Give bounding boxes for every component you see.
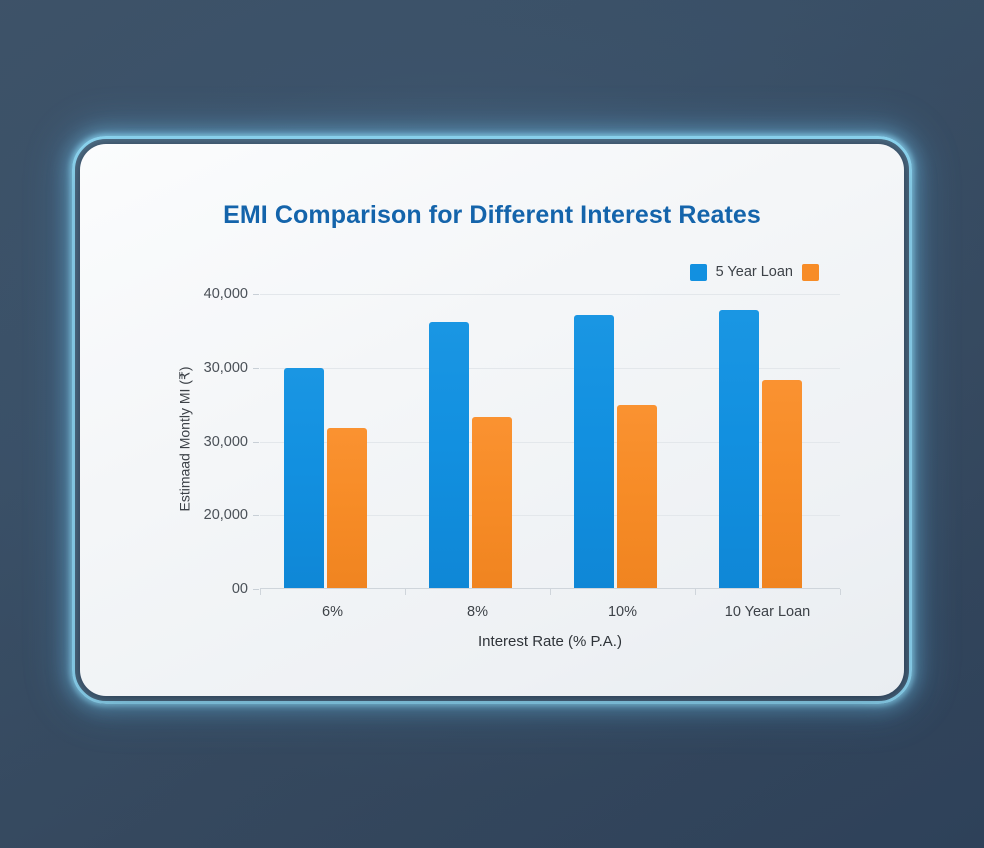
bar-orange-1[interactable]	[472, 417, 512, 589]
legend-swatch-blue	[690, 264, 707, 281]
bar-orange-3[interactable]	[762, 380, 802, 589]
x-axis-category-label: 8%	[467, 604, 488, 620]
x-axis-title: Interest Rate (% P.A.)	[260, 633, 840, 650]
x-axis-tickmark	[405, 589, 406, 595]
x-axis-tickmark	[840, 589, 841, 595]
x-axis-tickmark	[695, 589, 696, 595]
x-axis-tickmark	[550, 589, 551, 595]
chart-legend: 5 Year Loan	[690, 262, 828, 282]
y-axis-tickmark	[253, 515, 259, 516]
y-axis-tick-label: 40,000	[158, 286, 248, 302]
y-axis-tick-label: 30,000	[158, 360, 248, 376]
chart-card: EMI Comparison for Different Interest Re…	[80, 144, 904, 696]
bar-orange-0[interactable]	[327, 428, 367, 590]
y-axis-tick-label: 20,000	[158, 507, 248, 523]
y-axis-tickmark	[253, 442, 259, 443]
gridline	[260, 294, 840, 295]
y-axis-title: Estimaad Montly MI (₹)	[177, 366, 194, 511]
chart-title: EMI Comparison for Different Interest Re…	[80, 201, 904, 230]
bar-blue-1[interactable]	[429, 322, 469, 589]
y-axis-tickmark	[253, 368, 259, 369]
bar-blue-2[interactable]	[574, 315, 614, 589]
bar-blue-0[interactable]	[284, 368, 324, 589]
y-axis-tickmark	[253, 294, 259, 295]
y-axis-tickmark	[253, 589, 259, 590]
legend-label-series-1: 5 Year Loan	[716, 264, 793, 280]
legend-item-series-1[interactable]: 5 Year Loan	[690, 264, 793, 281]
x-axis-category-label: 6%	[322, 604, 343, 620]
x-axis-category-label: 10 Year Loan	[725, 604, 810, 620]
y-axis-tick-label: 00	[158, 581, 248, 597]
x-axis-tickmark	[260, 589, 261, 595]
bar-orange-2[interactable]	[617, 405, 657, 589]
legend-item-series-2[interactable]	[802, 264, 828, 281]
bar-blue-3[interactable]	[719, 310, 759, 590]
x-axis-line	[260, 588, 840, 590]
x-axis-category-label: 10%	[608, 604, 637, 620]
plot-area: 40,00030,00030,00020,00000 6%8%10%10 Yea…	[260, 294, 840, 589]
y-axis-tick-label: 30,000	[158, 434, 248, 450]
legend-swatch-orange	[802, 264, 819, 281]
